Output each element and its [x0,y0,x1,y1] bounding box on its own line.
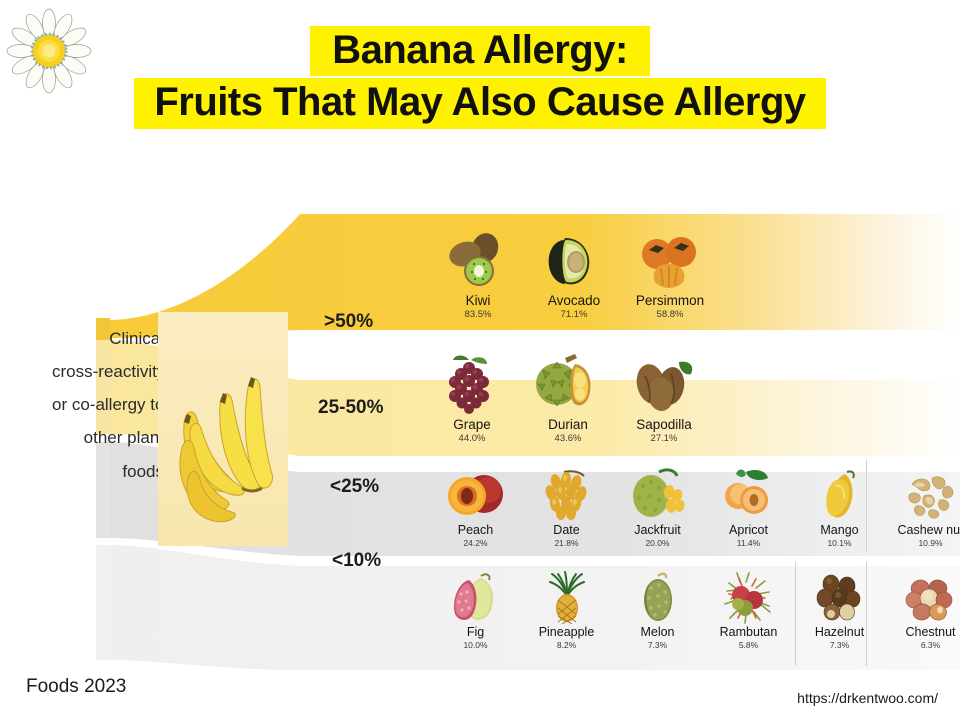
title-line-2: Fruits That May Also Cause Allergy [134,78,825,129]
fruit-cell-avocado: Avocado 71.1% [526,228,622,320]
fruit-row-lt25: Peach 24.2% [430,468,960,548]
pineapple-fruit-icon [534,570,600,624]
title-line-1: Banana Allergy: [310,26,650,76]
source-citation: Foods 2023 [26,676,126,698]
fruit-cell-sapodilla: Sapodilla 27.1% [616,352,712,444]
row4-divider-2 [866,562,867,666]
fruit-name: Apricot [729,524,768,538]
fruit-name: Chestnut [905,626,955,640]
fruit-percent: 83.5% [465,310,492,320]
fig-fruit-icon [443,570,509,624]
fruit-cell-peach: Peach 24.2% [430,468,521,548]
fruit-percent: 21.8% [554,539,578,548]
left-line-1: Clinical [52,322,164,355]
sapodilla-fruit-icon [627,352,701,416]
fruit-cell-chestnut: Chestnut 6.3% [885,570,960,650]
kiwi-fruit-icon [441,228,515,292]
fruit-percent: 20.0% [645,539,669,548]
fruit-percent: 10.1% [827,539,851,548]
left-description: Clinical cross-reactivity or co-allergy … [52,322,164,488]
fruit-percent: 7.3% [648,641,667,650]
fruit-percent: 5.8% [739,641,758,650]
fruit-cell-grape: Grape 44.0% [424,352,520,444]
band-label-lt25: <25% [330,476,379,498]
fruit-name: Avocado [548,294,600,309]
fruit-name: Hazelnut [815,626,864,640]
fruit-percent: 8.2% [557,641,576,650]
fruit-row-gt50: Kiwi 83.5% Avocado 71.1% [430,228,718,320]
fruit-percent: 44.0% [459,434,486,444]
fruit-row-25-50: Grape 44.0% Durian 43.6% [424,352,712,444]
fruit-name: Fig [467,626,484,640]
fruit-name: Cashew nut [897,524,960,538]
peach-fruit-icon [443,468,509,522]
fruit-percent: 27.1% [651,434,678,444]
rambutan-fruit-icon [716,570,782,624]
fruit-name: Peach [458,524,493,538]
fruit-name: Melon [640,626,674,640]
fruit-cell-hazelnut: Hazelnut 7.3% [794,570,885,650]
left-line-2: cross-reactivity [52,355,164,388]
fruit-cell-cashew-nut: Cashew nut 10.9% [885,468,960,548]
avocado-fruit-icon [537,228,611,292]
melon-fruit-icon [625,570,691,624]
fruit-name: Persimmon [636,294,704,309]
mango-fruit-icon [807,468,873,522]
row4-divider-1 [795,562,796,666]
fruit-percent: 10.0% [463,641,487,650]
fruit-name: Jackfruit [634,524,681,538]
fruit-cell-pineapple: Pineapple 8.2% [521,570,612,650]
fruit-name: Mango [820,524,858,538]
fruit-cell-date: Date 21.8% [521,468,612,548]
left-line-5: foods [52,455,164,488]
row3-divider [866,460,867,552]
fruit-name: Durian [548,418,588,433]
hazelnut-nut-icon [807,570,873,624]
left-line-4: other plant [52,421,164,454]
fruit-percent: 6.3% [921,641,940,650]
fruit-cell-durian: Durian 43.6% [520,352,616,444]
bunch-of-bananas-icon [158,312,288,546]
fruit-name: Kiwi [466,294,491,309]
grape-fruit-icon [435,352,509,416]
website-url[interactable]: https://drkentwoo.com/ [797,690,938,706]
band-stub-lt10 [96,545,110,660]
fruit-percent: 11.4% [737,539,760,548]
infographic-canvas: Banana Allergy: Fruits That May Also Cau… [0,0,960,720]
banana-source-box [158,312,288,546]
fruit-percent: 71.1% [561,310,588,320]
fruit-cell-jackfruit: Jackfruit 20.0% [612,468,703,548]
band-label-gt50: >50% [324,311,373,333]
left-line-3: or co-allergy to [52,388,164,421]
fruit-cell-persimmon: Persimmon 58.8% [622,228,718,320]
date-fruit-icon [534,468,600,522]
fruit-percent: 43.6% [555,434,582,444]
jackfruit-fruit-icon [625,468,691,522]
fruit-percent: 10.9% [918,539,942,548]
durian-fruit-icon [531,352,605,416]
fruit-cell-mango: Mango 10.1% [794,468,885,548]
fruit-cell-kiwi: Kiwi 83.5% [430,228,526,320]
fruit-name: Sapodilla [636,418,692,433]
fruit-percent: 24.2% [463,539,487,548]
fruit-name: Date [553,524,579,538]
fruit-name: Grape [453,418,491,433]
fruit-percent: 58.8% [657,310,684,320]
fruit-cell-rambutan: Rambutan 5.8% [703,570,794,650]
fruit-cell-fig: Fig 10.0% [430,570,521,650]
fruit-name: Rambutan [720,626,778,640]
fruit-cell-apricot: Apricot 11.4% [703,468,794,548]
fruit-cell-melon: Melon 7.3% [612,570,703,650]
page-title: Banana Allergy: Fruits That May Also Cau… [0,26,960,129]
fruit-name: Pineapple [539,626,595,640]
chestnut-nut-icon [898,570,960,624]
cashew-nut-icon [898,468,960,522]
apricot-fruit-icon [716,468,782,522]
band-label-lt10: <10% [332,550,381,572]
fruit-percent: 7.3% [830,641,849,650]
band-label-25-50: 25-50% [318,397,384,419]
persimmon-fruit-icon [633,228,707,292]
fruit-row-lt10: Fig 10.0% Pineapple 8.2% [430,570,960,650]
